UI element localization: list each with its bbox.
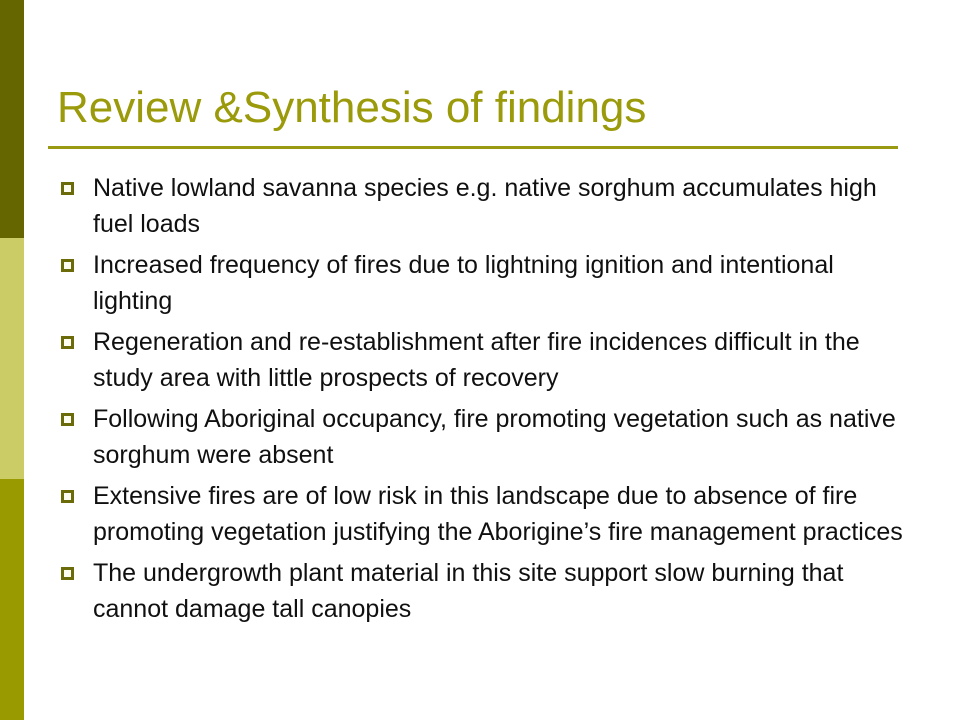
list-item-text: The undergrowth plant material in this s… (93, 555, 908, 627)
hollow-square-bullet-icon (61, 182, 74, 195)
hollow-square-bullet-icon (61, 259, 74, 272)
list-item: Native lowland savanna species e.g. nati… (48, 170, 908, 242)
page-title: Review &Synthesis of findings (48, 82, 900, 134)
hollow-square-bullet-icon (61, 413, 74, 426)
list-item: Increased frequency of fires due to ligh… (48, 247, 908, 319)
hollow-square-bullet-icon (61, 336, 74, 349)
title-block: Review &Synthesis of findings (48, 82, 900, 134)
list-item-text: Extensive fires are of low risk in this … (93, 478, 908, 550)
list-item-text: Regeneration and re-establishment after … (93, 324, 908, 396)
list-item: Following Aboriginal occupancy, fire pro… (48, 401, 908, 473)
presentation-slide: Review &Synthesis of findings Native low… (0, 0, 960, 720)
hollow-square-bullet-icon (61, 567, 74, 580)
decorative-left-bar (0, 0, 24, 720)
sidebar-band-dark-olive (0, 0, 24, 238)
sidebar-band-light-olive (0, 238, 24, 479)
list-item-text: Native lowland savanna species e.g. nati… (93, 170, 908, 242)
sidebar-band-medium-olive (0, 479, 24, 720)
list-item-text: Increased frequency of fires due to ligh… (93, 247, 908, 319)
hollow-square-bullet-icon (61, 490, 74, 503)
list-item: The undergrowth plant material in this s… (48, 555, 908, 627)
list-item: Extensive fires are of low risk in this … (48, 478, 908, 550)
list-item-text: Following Aboriginal occupancy, fire pro… (93, 401, 908, 473)
title-underline-rule (48, 146, 898, 149)
bullet-list: Native lowland savanna species e.g. nati… (48, 170, 908, 632)
list-item: Regeneration and re-establishment after … (48, 324, 908, 396)
